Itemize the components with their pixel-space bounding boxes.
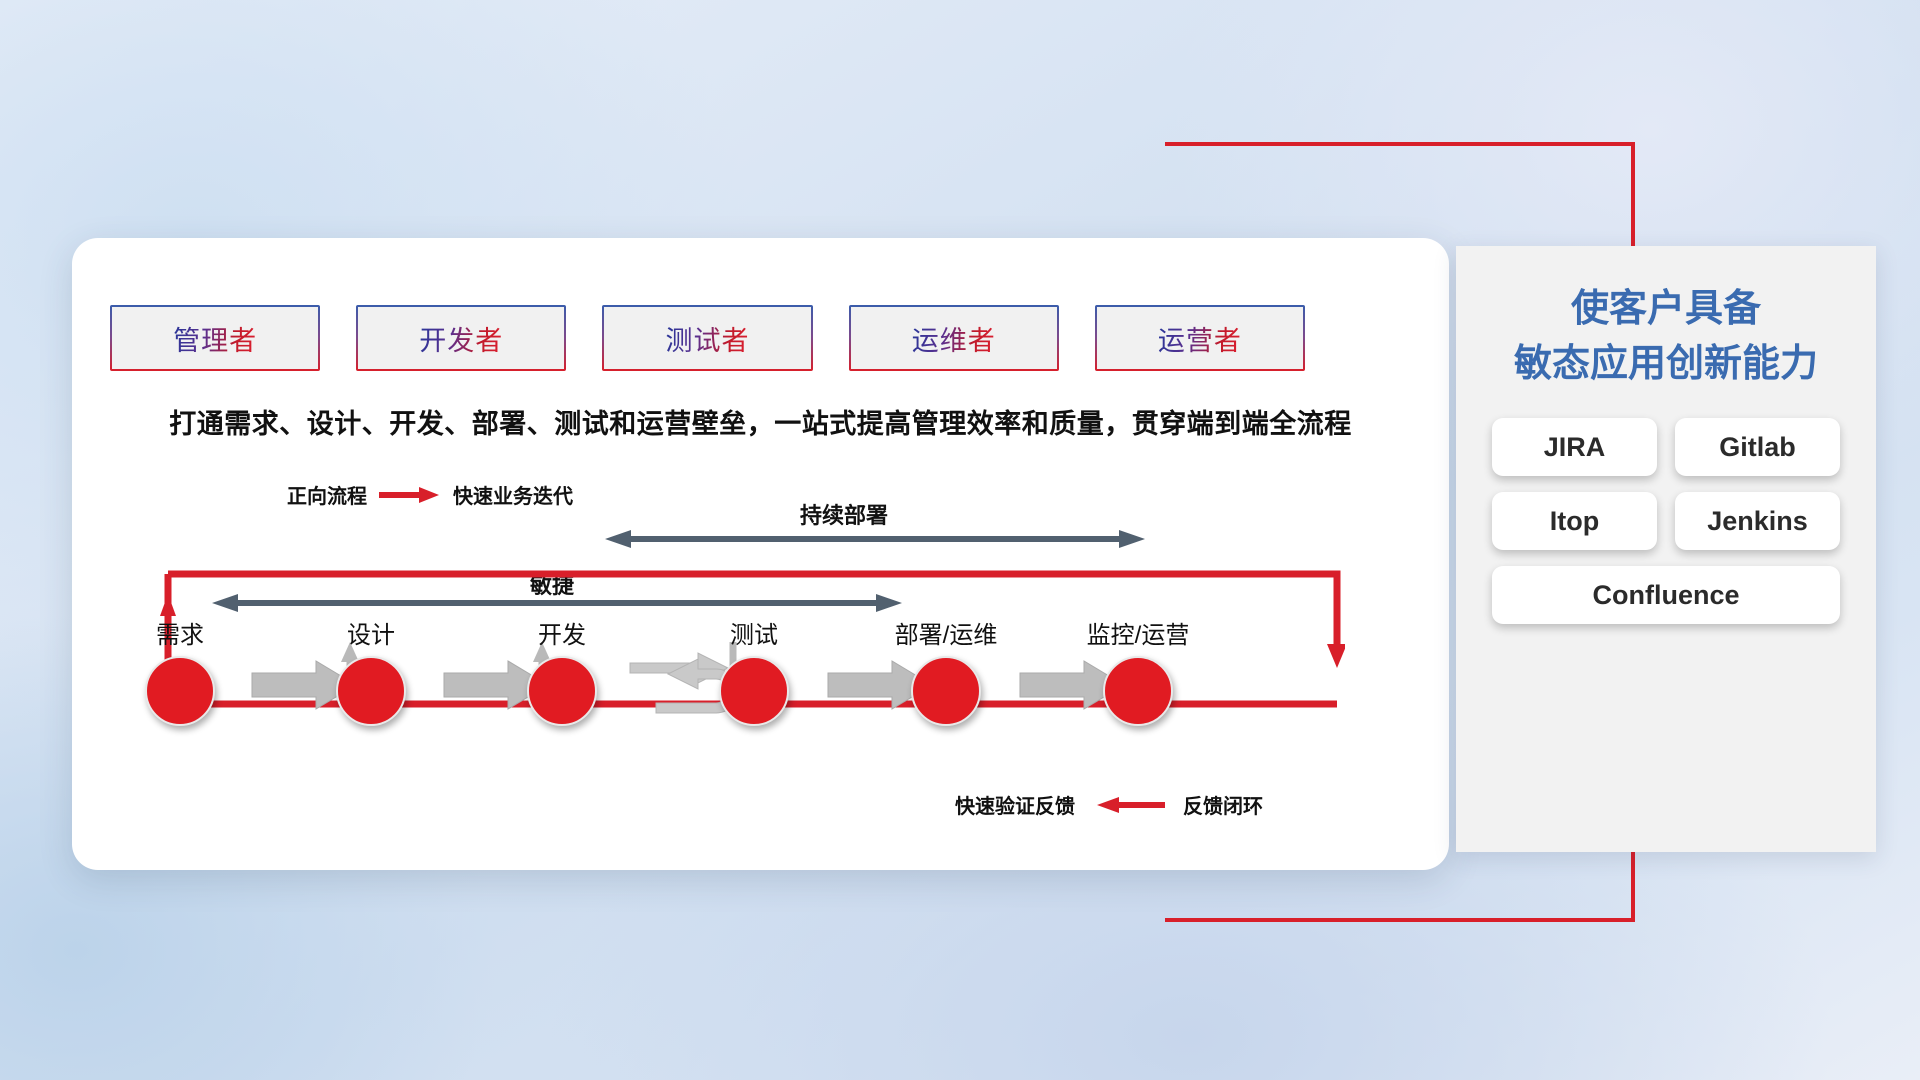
stage-dot bbox=[527, 656, 597, 726]
arrow-right-red-icon bbox=[379, 485, 441, 505]
description-text: 打通需求、设计、开发、部署、测试和运营壁垒，一站式提高管理效率和质量，贯穿端到端… bbox=[72, 402, 1449, 441]
panel-title-line1: 使客户具备 bbox=[1466, 282, 1866, 337]
stage-label: 监控/运营 bbox=[1078, 615, 1198, 650]
stage-label: 开发 bbox=[502, 615, 622, 650]
role-label: 管理者 bbox=[173, 319, 257, 358]
panel-title-line2: 敏态应用创新能力 bbox=[1466, 337, 1866, 392]
feedback-source-label: 反馈闭环 bbox=[1183, 790, 1263, 819]
feedback-caption: 快速验证反馈 反馈闭环 bbox=[955, 790, 1263, 819]
stage-testing[interactable]: 测试 bbox=[694, 615, 814, 726]
stage-dot bbox=[911, 656, 981, 726]
tool-jenkins[interactable]: Jenkins bbox=[1675, 492, 1840, 550]
double-arrow-slate-icon bbox=[605, 528, 1145, 550]
forward-flow-caption: 正向流程 快速业务迭代 bbox=[287, 480, 573, 509]
tool-confluence[interactable]: Confluence bbox=[1492, 566, 1840, 624]
forward-flow-from-label: 正向流程 bbox=[287, 480, 367, 509]
role-box-developer[interactable]: 开发者 bbox=[356, 305, 566, 371]
forward-flow-to-label: 快速业务迭代 bbox=[453, 480, 573, 509]
stage-dot bbox=[336, 656, 406, 726]
role-label: 测试者 bbox=[666, 319, 750, 358]
stage-deploy-ops[interactable]: 部署/运维 bbox=[886, 615, 1006, 726]
measure-label-continuous-deployment: 持续部署 bbox=[800, 498, 888, 530]
stage-design[interactable]: 设计 bbox=[311, 615, 431, 726]
role-box-operations[interactable]: 运维者 bbox=[849, 305, 1059, 371]
role-box-tester[interactable]: 测试者 bbox=[602, 305, 812, 371]
stage-development[interactable]: 开发 bbox=[502, 615, 622, 726]
stage-dot bbox=[145, 656, 215, 726]
stage-label: 设计 bbox=[311, 615, 431, 650]
panel-title: 使客户具备 敏态应用创新能力 bbox=[1456, 246, 1876, 392]
stage-dot bbox=[719, 656, 789, 726]
stage-label: 部署/运维 bbox=[886, 615, 1006, 650]
stage-monitor-operate[interactable]: 监控/运营 bbox=[1078, 615, 1198, 726]
tool-itop[interactable]: Itop bbox=[1492, 492, 1657, 550]
role-box-business-ops[interactable]: 运营者 bbox=[1095, 305, 1305, 371]
feedback-result-label: 快速验证反馈 bbox=[955, 790, 1075, 819]
role-label: 运营者 bbox=[1158, 319, 1242, 358]
stage-dot bbox=[1103, 656, 1173, 726]
stage-label: 需求 bbox=[120, 615, 240, 650]
capability-panel: 使客户具备 敏态应用创新能力 JIRA Gitlab Itop Jenkins … bbox=[1456, 246, 1876, 852]
role-box-row: 管理者 开发者 测试者 运维者 运营者 bbox=[110, 305, 1305, 371]
pipeline-stage-row: 需求 设计 开发 测试 部署/运维 监控/运营 bbox=[110, 615, 1410, 735]
tool-list: JIRA Gitlab Itop Jenkins Confluence bbox=[1456, 392, 1876, 624]
tool-gitlab[interactable]: Gitlab bbox=[1675, 418, 1840, 476]
tool-jira[interactable]: JIRA bbox=[1492, 418, 1657, 476]
role-box-manager[interactable]: 管理者 bbox=[110, 305, 320, 371]
role-label: 开发者 bbox=[419, 319, 503, 358]
role-label: 运维者 bbox=[912, 319, 996, 358]
arrow-left-red-icon bbox=[1093, 795, 1165, 815]
stage-label: 测试 bbox=[694, 615, 814, 650]
stage-requirement[interactable]: 需求 bbox=[120, 615, 240, 726]
